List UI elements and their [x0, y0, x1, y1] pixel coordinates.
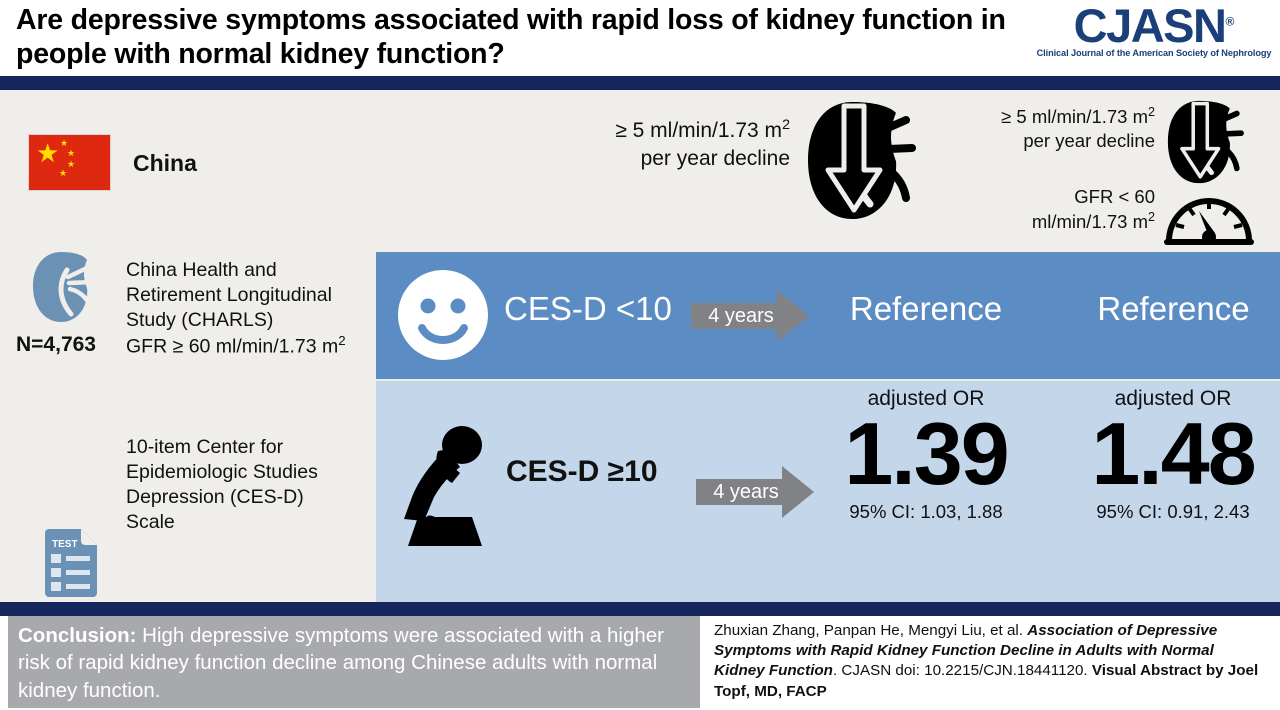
header-divider [0, 76, 1280, 90]
country-label: China [133, 150, 197, 177]
study-criterion-superscript: 2 [338, 333, 345, 348]
odds-ratio-value-2: 1.48 [1054, 413, 1280, 495]
footer-divider [0, 602, 1280, 616]
citation-source: . CJASN doi: 10.2215/CJN.18441120. [833, 662, 1092, 679]
gauge-icon [1163, 185, 1255, 247]
test-document-label: TEST [52, 539, 78, 550]
outcome-3-superscript: 2 [1148, 210, 1155, 224]
depressed-person-icon [394, 421, 504, 546]
outcome-2-superscript: 2 [1148, 105, 1155, 119]
reference-group-label: CES-D <10 [504, 290, 672, 328]
page-title: Are depressive symptoms associated with … [16, 4, 1026, 72]
followup-arrow-exposed: 4 years [696, 466, 814, 518]
result-column-1: adjusted OR 1.39 95% CI: 1.03, 1.88 [804, 387, 1048, 523]
conclusion-text: Conclusion: High depressive symptoms wer… [18, 622, 692, 704]
flag-star-small-1: ★ [60, 139, 68, 148]
smiley-face-icon [396, 268, 490, 362]
flag-star-small-2: ★ [67, 149, 75, 158]
followup-duration-exposed: 4 years [696, 481, 814, 504]
followup-duration-reference: 4 years [691, 305, 809, 328]
outcome-3-line-2: ml/min/1.73 m [1032, 211, 1148, 232]
outcome-2-line-2: per year decline [1023, 130, 1155, 151]
exposed-row: CES-D ≥10 4 years adjusted OR 1.39 95% C… [376, 381, 1280, 602]
study-line-1: China Health and [126, 259, 277, 281]
poster-footer: Conclusion: High depressive symptoms wer… [0, 616, 1280, 710]
reference-value-outcome-1: Reference [806, 290, 1046, 328]
study-line-2: Retirement Longitudinal [126, 284, 332, 306]
scale-line-4: Scale [126, 511, 175, 533]
odds-ratio-value-1: 1.39 [804, 413, 1048, 495]
cjasn-logo-text: CJASN [1074, 0, 1226, 52]
registered-trademark-icon: ® [1225, 14, 1234, 28]
study-line-3: Study (CHARLS) [126, 309, 273, 331]
sample-size-label: N=4,763 [16, 333, 96, 357]
results-panel: CES-D <10 4 years Reference Reference [376, 252, 1280, 602]
exposed-group-label: CES-D ≥10 [506, 455, 658, 489]
outcome-2-line-1: ≥ 5 ml/min/1.73 m [1001, 106, 1148, 127]
scale-line-2: Epidemiologic Studies [126, 461, 318, 483]
outcome-header-1: ≥ 5 ml/min/1.73 m2 per year decline [560, 116, 790, 172]
citation-text: Zhuxian Zhang, Panpan He, Mengyi Liu, et… [714, 621, 1264, 702]
cjasn-logo: CJASN® Clinical Journal of the American … [1036, 2, 1272, 76]
confidence-interval-1: 95% CI: 1.03, 1.88 [804, 501, 1048, 523]
study-description: China Health and Retirement Longitudinal… [126, 258, 374, 359]
visual-abstract-poster: Are depressive symptoms associated with … [0, 0, 1280, 710]
poster-body: ★ ★ ★ ★ ★ China N=4,763 China Health and… [0, 90, 1280, 602]
flag-star-small-3: ★ [67, 160, 75, 169]
flag-star-small-4: ★ [59, 169, 67, 178]
scale-description: 10-item Center for Epidemiologic Studies… [126, 435, 376, 535]
flag-star-large: ★ [36, 140, 59, 166]
outcome-1-superscript: 2 [782, 117, 790, 133]
kidney-decline-icon-2 [1162, 98, 1254, 186]
study-inclusion-criterion: GFR ≥ 60 ml/min/1.73 m [126, 335, 338, 357]
reference-value-outcome-2: Reference [1056, 290, 1280, 328]
confidence-interval-2: 95% CI: 0.91, 2.43 [1054, 501, 1280, 523]
cjasn-logo-wordmark: CJASN® [1074, 2, 1235, 50]
poster-header: Are depressive symptoms associated with … [0, 0, 1280, 76]
conclusion-label: Conclusion: [18, 624, 136, 647]
china-flag-icon: ★ ★ ★ ★ ★ [28, 134, 111, 191]
outcome-3-line-1: GFR < 60 [1074, 186, 1155, 207]
outcome-1-line-2: per year decline [641, 147, 790, 170]
result-column-2: adjusted OR 1.48 95% CI: 0.91, 2.43 [1054, 387, 1280, 523]
scale-line-3: Depression (CES-D) [126, 486, 304, 508]
conclusion-box: Conclusion: High depressive symptoms wer… [8, 616, 700, 708]
followup-arrow-reference: 4 years [691, 290, 809, 342]
outcome-header-2: ≥ 5 ml/min/1.73 m2 per year decline [930, 104, 1155, 153]
test-document-icon: TEST [41, 527, 101, 599]
kidney-icon [27, 248, 109, 326]
citation-authors: Zhuxian Zhang, Panpan He, Mengyi Liu, et… [714, 622, 1027, 639]
outcome-1-line-1: ≥ 5 ml/min/1.73 m [615, 119, 782, 142]
outcome-header-3: GFR < 60 ml/min/1.73 m2 [930, 185, 1155, 234]
reference-row: CES-D <10 4 years Reference Reference [376, 252, 1280, 379]
citation-box: Zhuxian Zhang, Panpan He, Mengyi Liu, et… [708, 616, 1272, 708]
scale-line-1: 10-item Center for [126, 436, 283, 458]
kidney-decline-icon [800, 98, 930, 223]
